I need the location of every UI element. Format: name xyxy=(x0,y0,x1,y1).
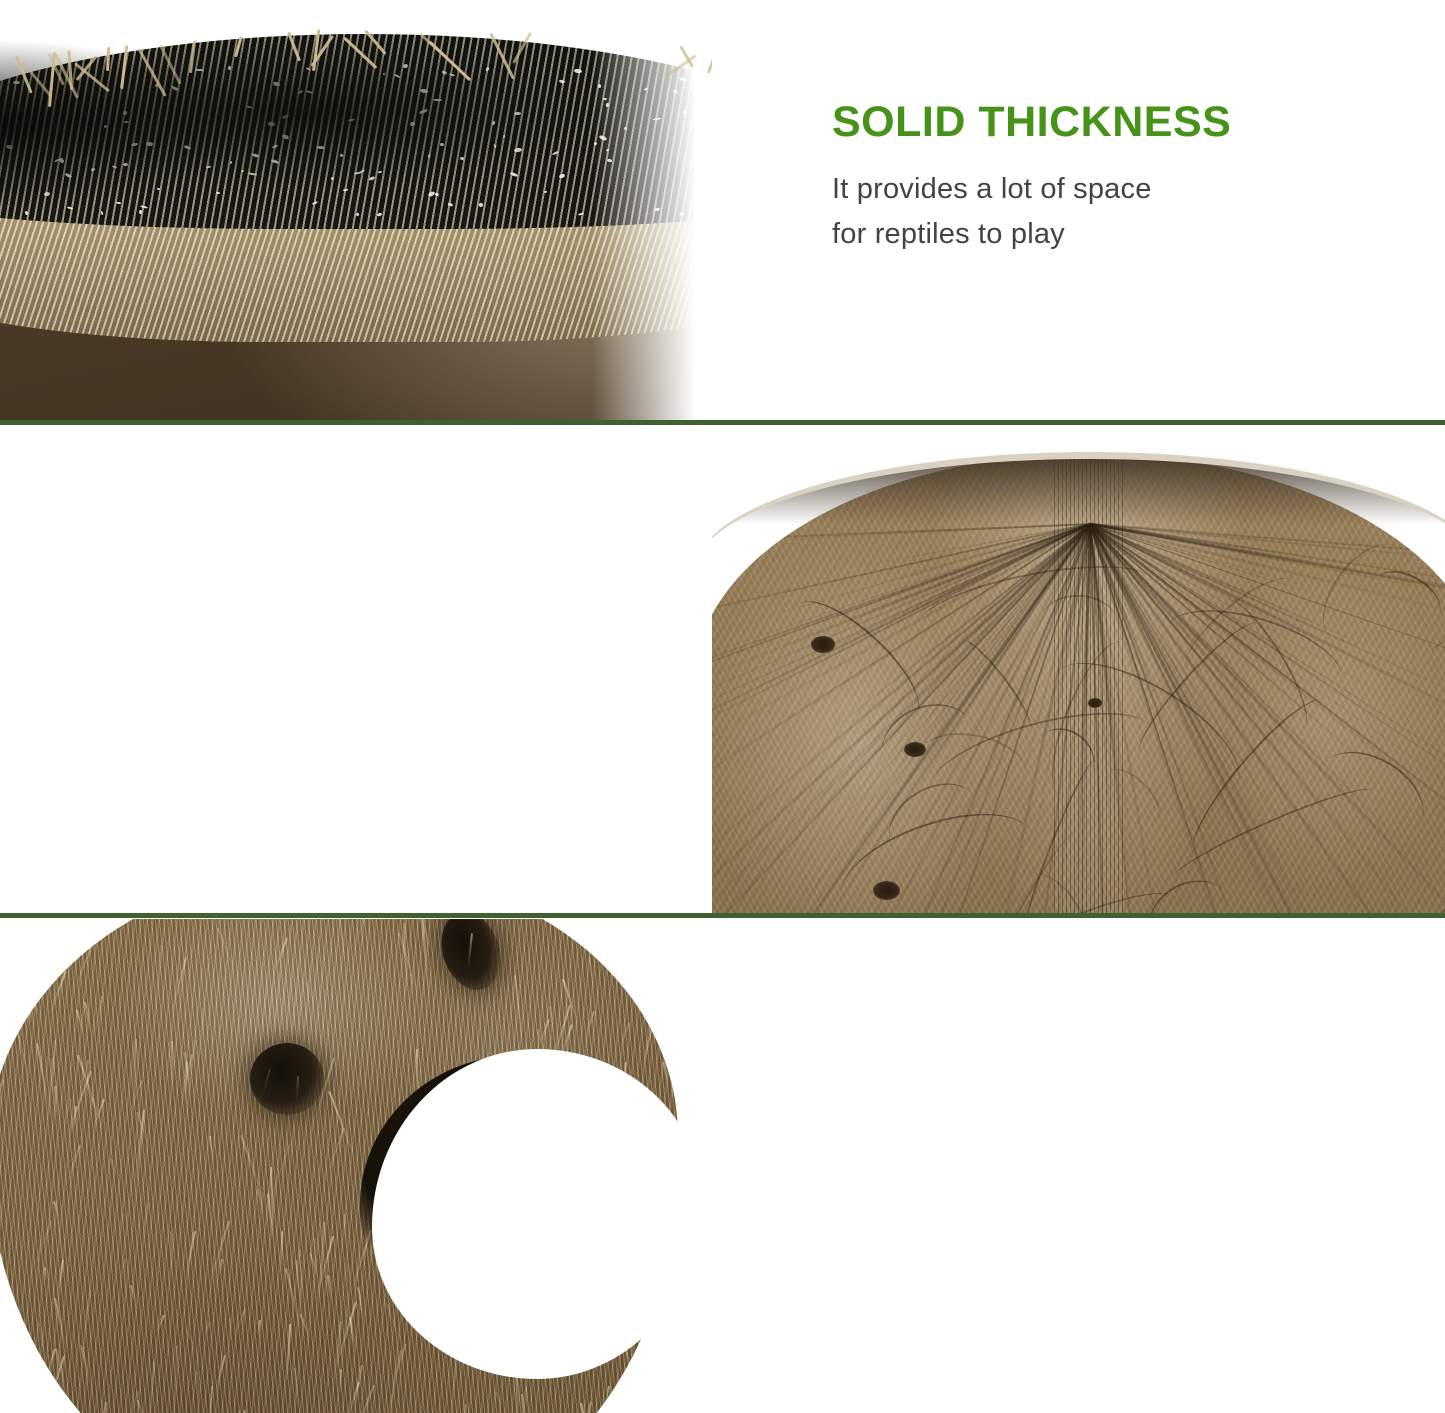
shell-rim-speck xyxy=(427,154,430,158)
shell-rim-speck xyxy=(100,211,103,216)
shell-dark-blemish xyxy=(811,636,835,653)
shell-rim-speck xyxy=(478,202,483,207)
shell-rim-speck xyxy=(377,170,382,173)
shell-rim-speck xyxy=(419,109,429,115)
shell-rim-speck xyxy=(216,192,220,194)
shell-rim-speck xyxy=(268,122,275,126)
shell-rim-speck xyxy=(348,118,355,122)
shell-rim-speck xyxy=(574,68,582,73)
shell-rim-speck xyxy=(229,161,232,164)
shell-rim-speck xyxy=(383,73,385,76)
shell-rim-speck xyxy=(578,212,585,216)
shell-rim-speck xyxy=(559,173,566,179)
shell-rim-speck xyxy=(503,134,507,138)
shell-rim-speck xyxy=(131,142,138,146)
shell-rim-speck xyxy=(340,153,343,157)
shell-rim-speck xyxy=(394,74,401,78)
shell-rim-speck xyxy=(433,99,442,102)
shell-rim-speck xyxy=(13,81,20,85)
panel-heading-solid-thickness: SOLID THICKNESS xyxy=(832,100,1392,145)
shell-rim-speck xyxy=(298,90,304,94)
shell-rim-speck xyxy=(316,146,325,150)
shell-rim-speck xyxy=(6,145,14,150)
shell-rim-speck xyxy=(356,212,359,215)
shell-rim-speck xyxy=(368,176,374,181)
shell-rim-speck xyxy=(24,211,28,216)
shell-rim-speck xyxy=(442,70,447,74)
shell-rim-speck xyxy=(282,134,290,140)
shell-rim-speck xyxy=(112,166,117,170)
shell-rim-speck xyxy=(311,201,317,205)
shell-rim-speck xyxy=(330,176,333,179)
shell-rim-speck xyxy=(449,73,456,77)
shell-rim-speck xyxy=(359,169,365,174)
shell-coir-fiber xyxy=(124,1259,126,1305)
shell-rim-speck xyxy=(195,69,204,71)
photo-right-fade xyxy=(592,0,712,420)
shell-rim-speck xyxy=(514,148,523,153)
shell-rim-speck xyxy=(116,202,122,205)
shell-rim-speck xyxy=(184,145,192,150)
shell-rim-speck xyxy=(139,210,142,214)
shell-rim-speck xyxy=(409,121,415,126)
panel-divider-1 xyxy=(0,420,1445,425)
shell-rim-speck xyxy=(91,167,96,171)
shell-rim-speck xyxy=(146,141,153,145)
shell-rim-speck xyxy=(460,156,464,159)
shell-rim-speck xyxy=(544,190,547,192)
coconut-shell-interior-photo xyxy=(712,426,1445,915)
shell-rim-speck xyxy=(434,192,439,196)
shell-rim-speck xyxy=(559,79,565,83)
shell-rim-speck xyxy=(59,158,64,163)
shell-rim-speck xyxy=(171,86,180,92)
shell-rim-speck xyxy=(245,106,254,110)
shell-rim-speck xyxy=(491,120,496,125)
shell-rim-speck xyxy=(124,121,130,124)
shell-rim-speck xyxy=(271,158,280,163)
shell-rim-speck xyxy=(206,166,212,169)
shell-rim-speck xyxy=(306,67,311,71)
shell-rim-speck xyxy=(494,144,498,149)
shell-rim-speck xyxy=(248,173,257,177)
shell-coir-fiber xyxy=(202,1008,204,1082)
shell-rim-speck xyxy=(123,111,128,116)
shell-rim-speck xyxy=(272,144,279,149)
shell-rim-speck xyxy=(65,172,72,177)
shell-rim-speck xyxy=(241,170,244,173)
shell-rim-speck xyxy=(420,88,428,93)
shell-rim-speck xyxy=(343,188,349,191)
shell-dark-blemish xyxy=(904,742,926,757)
shell-rim-speck xyxy=(402,64,408,69)
shell-coir-fiber xyxy=(194,1040,196,1072)
shell-rim-speck xyxy=(440,142,444,145)
shell-rim-speck xyxy=(514,112,521,115)
shell-rim-speck xyxy=(44,191,51,196)
panel-body-solid-thickness: It provides a lot of space for reptiles … xyxy=(832,167,1392,257)
shell-germination-pore-lower xyxy=(250,1043,324,1115)
product-feature-infographic: SOLID THICKNESS It provides a lot of spa… xyxy=(0,0,1445,1413)
shell-rim-speck xyxy=(103,124,107,128)
shell-rim-speck xyxy=(428,190,436,197)
shell-rim-speck xyxy=(552,150,560,155)
shell-rim-speck xyxy=(252,153,260,158)
shell-rim-speck xyxy=(354,171,362,175)
shell-rim-speck xyxy=(54,158,63,163)
shell-rim-speck xyxy=(485,66,489,71)
coconut-shell-exterior-photo xyxy=(0,919,720,1413)
feature-panel-solid-thickness: SOLID THICKNESS It provides a lot of spa… xyxy=(0,0,1445,422)
shell-rim-speck xyxy=(510,172,519,177)
shell-rim-speck xyxy=(377,213,383,218)
shell-rim-speck xyxy=(140,206,148,210)
shell-rim-speck xyxy=(272,81,280,87)
shell-rim-speck xyxy=(447,202,452,206)
text-block-solid-thickness: SOLID THICKNESS It provides a lot of spa… xyxy=(832,100,1392,257)
shell-rim-speck xyxy=(228,66,231,70)
shell-rim-speck xyxy=(123,163,128,166)
shell-rim-speck xyxy=(157,187,161,190)
coconut-shell-rim-cross-section-photo xyxy=(0,0,712,420)
shell-rim-speck xyxy=(306,90,313,94)
shell-rim-speck xyxy=(282,113,290,119)
shell-rim-speck xyxy=(67,206,73,210)
panel-divider-2 xyxy=(0,913,1445,918)
